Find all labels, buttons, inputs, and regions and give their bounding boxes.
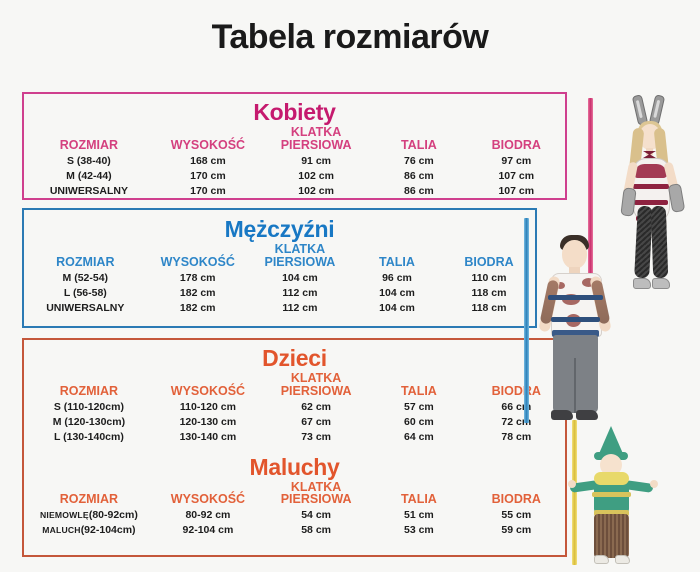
table-header-row: ROZMIAR WYSOKOŚĆ KLATKA PIERSIOWA TALIA …: [24, 481, 565, 509]
cell-chest: 67 cm: [262, 415, 370, 430]
toddlers-section-title: Maluchy: [24, 454, 565, 481]
cell-size: M (42-44): [24, 169, 154, 184]
header-chest-line1: KLATKA: [249, 243, 351, 256]
table-row: UNIWERSALNY 170 cm 102 cm 86 cm 107 cm: [24, 184, 565, 199]
cell-chest: 54 cm: [262, 508, 370, 523]
glove-right: [668, 183, 686, 213]
shoe-right: [615, 555, 630, 564]
women-table-body: S (38-40) 168 cm 91 cm 76 cm 97 cm M (42…: [24, 154, 565, 199]
table-header-row: ROZMIAR WYSOKOŚĆ KLATKA PIERSIOWA TALIA …: [24, 243, 535, 271]
cell-waist: 96 cm: [351, 271, 443, 286]
measuring-tape-chest: [592, 492, 631, 497]
shoe-right: [576, 410, 598, 420]
men-section-title: Mężczyźni: [24, 216, 535, 243]
header-waist: TALIA: [351, 243, 443, 271]
cell-chest: 73 cm: [262, 430, 370, 445]
cell-height: 110-120 cm: [154, 400, 262, 415]
men-table-body: M (52-54) 178 cm 104 cm 96 cm 110 cm L (…: [24, 271, 535, 316]
shoe-right: [652, 278, 670, 289]
cell-waist: 64 cm: [370, 430, 467, 445]
table-row: S (38-40) 168 cm 91 cm 76 cm 97 cm: [24, 154, 565, 169]
toddlers-size-table: ROZMIAR WYSOKOŚĆ KLATKA PIERSIOWA TALIA …: [24, 481, 565, 539]
header-height: WYSOKOŚĆ: [154, 481, 262, 509]
cell-waist: 51 cm: [370, 508, 467, 523]
cell-height: 120-130 cm: [154, 415, 262, 430]
cell-size: NIEMOWLĘ(80-92cm): [24, 508, 154, 523]
table-row: M (52-54) 178 cm 104 cm 96 cm 110 cm: [24, 271, 535, 286]
table-header-row: ROZMIAR WYSOKOŚĆ KLATKA PIERSIOWA TALIA …: [24, 372, 565, 400]
header-waist: TALIA: [370, 481, 467, 509]
header-chest-line2: PIERSIOWA: [249, 256, 351, 269]
men-size-table: ROZMIAR WYSOKOŚĆ KLATKA PIERSIOWA TALIA …: [24, 243, 535, 316]
table-row: NIEMOWLĘ(80-92cm) 80-92 cm 54 cm 51 cm 5…: [24, 508, 565, 523]
cell-chest: 112 cm: [249, 301, 351, 316]
header-size: ROZMIAR: [24, 372, 154, 400]
cell-size: L (56-58): [24, 286, 147, 301]
cell-waist: 86 cm: [370, 184, 467, 199]
pants: [594, 514, 629, 558]
men-size-table-box: Mężczyźni ROZMIAR WYSOKOŚĆ KLATKA PIERSI…: [22, 208, 537, 328]
table-row: L (130-140cm) 130-140 cm 73 cm 64 cm 78 …: [24, 430, 565, 445]
cell-waist: 53 cm: [370, 523, 467, 538]
shoe-left: [633, 278, 651, 289]
women-size-table-box: Kobiety ROZMIAR WYSOKOŚĆ KLATKA PIERSIOW…: [22, 92, 567, 200]
header-chest: KLATKA PIERSIOWA: [262, 481, 370, 509]
kids-size-table-box: Dzieci ROZMIAR WYSOKOŚĆ KLATKA PIERSIOWA…: [22, 338, 567, 557]
kids-size-table: ROZMIAR WYSOKOŚĆ KLATKA PIERSIOWA TALIA …: [24, 372, 565, 445]
stocking-left: [634, 206, 653, 279]
cell-size: UNIWERSALNY: [24, 184, 154, 199]
bow-tie: [643, 151, 656, 158]
table-row: M (42-44) 170 cm 102 cm 86 cm 107 cm: [24, 169, 565, 184]
cell-size: S (110-120cm): [24, 400, 154, 415]
cell-chest: 112 cm: [249, 286, 351, 301]
cell-waist: 57 cm: [370, 400, 467, 415]
cell-chest: 58 cm: [262, 523, 370, 538]
measuring-strap-waist: [634, 200, 668, 205]
cell-height: 130-140 cm: [154, 430, 262, 445]
header-chest-line2: PIERSIOWA: [262, 139, 370, 152]
cell-height: 80-92 cm: [154, 508, 262, 523]
cell-height: 168 cm: [154, 154, 262, 169]
size-chart-page: Tabela rozmiarów Kobiety ROZMIAR WYSOKOŚ…: [0, 0, 700, 572]
header-chest-line2: PIERSIOWA: [262, 385, 370, 398]
cell-hips: 55 cm: [468, 508, 565, 523]
toddlers-table-body: NIEMOWLĘ(80-92cm) 80-92 cm 54 cm 51 cm 5…: [24, 508, 565, 538]
cell-size: M (52-54): [24, 271, 147, 286]
measuring-strap-chest: [633, 184, 669, 189]
cell-height: 170 cm: [154, 184, 262, 199]
costume-body: [594, 480, 629, 514]
header-chest: KLATKA PIERSIOWA: [262, 126, 370, 154]
women-section-title: Kobiety: [24, 99, 565, 126]
women-size-table: ROZMIAR WYSOKOŚĆ KLATKA PIERSIOWA TALIA …: [24, 126, 565, 199]
men-table-header: ROZMIAR WYSOKOŚĆ KLATKA PIERSIOWA TALIA …: [24, 243, 535, 271]
cell-waist: 104 cm: [351, 301, 443, 316]
cell-height: 92-104 cm: [154, 523, 262, 538]
measuring-tape-waist: [551, 317, 600, 322]
hand-right: [650, 480, 658, 488]
cell-size-range: (80-92cm): [89, 509, 138, 521]
table-row: UNIWERSALNY 182 cm 112 cm 104 cm 118 cm: [24, 301, 535, 316]
shoe-left: [594, 555, 609, 564]
head: [562, 240, 587, 269]
cell-waist: 86 cm: [370, 169, 467, 184]
table-header-row: ROZMIAR WYSOKOŚĆ KLATKA PIERSIOWA TALIA …: [24, 126, 565, 154]
cell-waist: 60 cm: [370, 415, 467, 430]
cell-waist: 76 cm: [370, 154, 467, 169]
yellow-measuring-bar-icon: [572, 420, 577, 565]
cell-height: 182 cm: [147, 301, 249, 316]
cell-height: 182 cm: [147, 286, 249, 301]
cell-chest: 102 cm: [262, 184, 370, 199]
cell-chest: 104 cm: [249, 271, 351, 286]
cell-hips: 97 cm: [468, 154, 565, 169]
cell-size-word: MALUCH: [42, 525, 80, 535]
kids-section-title: Dzieci: [24, 345, 565, 372]
pants-seam: [574, 358, 576, 413]
table-row: MALUCH(92-104cm) 92-104 cm 58 cm 53 cm 5…: [24, 523, 565, 538]
cell-chest: 102 cm: [262, 169, 370, 184]
page-title: Tabela rozmiarów: [0, 18, 700, 57]
toddlers-table-header: ROZMIAR WYSOKOŚĆ KLATKA PIERSIOWA TALIA …: [24, 481, 565, 509]
shoe-left: [551, 410, 573, 420]
header-hips: BIODRA: [468, 481, 565, 509]
header-height: WYSOKOŚĆ: [154, 126, 262, 154]
header-height: WYSOKOŚĆ: [147, 243, 249, 271]
table-row: S (110-120cm) 110-120 cm 62 cm 57 cm 66 …: [24, 400, 565, 415]
stocking-right: [651, 206, 669, 278]
header-size: ROZMIAR: [24, 126, 154, 154]
header-waist: TALIA: [370, 372, 467, 400]
cell-hips: 59 cm: [468, 523, 565, 538]
cell-hips: 107 cm: [468, 184, 565, 199]
header-size: ROZMIAR: [24, 481, 154, 509]
header-height: WYSOKOŚĆ: [154, 372, 262, 400]
header-chest-line1: KLATKA: [262, 126, 370, 139]
table-row: M (120-130cm) 120-130 cm 67 cm 60 cm 72 …: [24, 415, 565, 430]
cell-size: S (38-40): [24, 154, 154, 169]
hand-left: [568, 480, 576, 488]
header-chest-line2: PIERSIOWA: [262, 493, 370, 506]
blue-measuring-bar-icon: [524, 218, 529, 423]
cell-size: UNIWERSALNY: [24, 301, 147, 316]
header-chest: KLATKA PIERSIOWA: [249, 243, 351, 271]
cell-chest: 62 cm: [262, 400, 370, 415]
cell-size-word: NIEMOWLĘ: [40, 510, 89, 520]
collar: [594, 472, 629, 485]
kids-table-body: S (110-120cm) 110-120 cm 62 cm 57 cm 66 …: [24, 400, 565, 445]
header-chest-line1: KLATKA: [262, 372, 370, 385]
man-zombie-costume-figure: [518, 218, 628, 433]
kids-table-header: ROZMIAR WYSOKOŚĆ KLATKA PIERSIOWA TALIA …: [24, 372, 565, 400]
cell-height: 170 cm: [154, 169, 262, 184]
measuring-tape-chest: [548, 295, 603, 300]
header-waist: TALIA: [370, 126, 467, 154]
cell-waist: 104 cm: [351, 286, 443, 301]
bust-panel: [634, 164, 667, 178]
header-chest: KLATKA PIERSIOWA: [262, 372, 370, 400]
cell-size: L (130-140cm): [24, 430, 154, 445]
cell-hips: 107 cm: [468, 169, 565, 184]
header-hips: BIODRA: [468, 126, 565, 154]
cell-height: 178 cm: [147, 271, 249, 286]
cell-size: MALUCH(92-104cm): [24, 523, 154, 538]
cell-size-range: (92-104cm): [81, 524, 136, 536]
cell-chest: 91 cm: [262, 154, 370, 169]
child-jester-costume-figure: [570, 424, 670, 569]
cell-size: M (120-130cm): [24, 415, 154, 430]
header-size: ROZMIAR: [24, 243, 147, 271]
women-table-header: ROZMIAR WYSOKOŚĆ KLATKA PIERSIOWA TALIA …: [24, 126, 565, 154]
table-row: L (56-58) 182 cm 112 cm 104 cm 118 cm: [24, 286, 535, 301]
